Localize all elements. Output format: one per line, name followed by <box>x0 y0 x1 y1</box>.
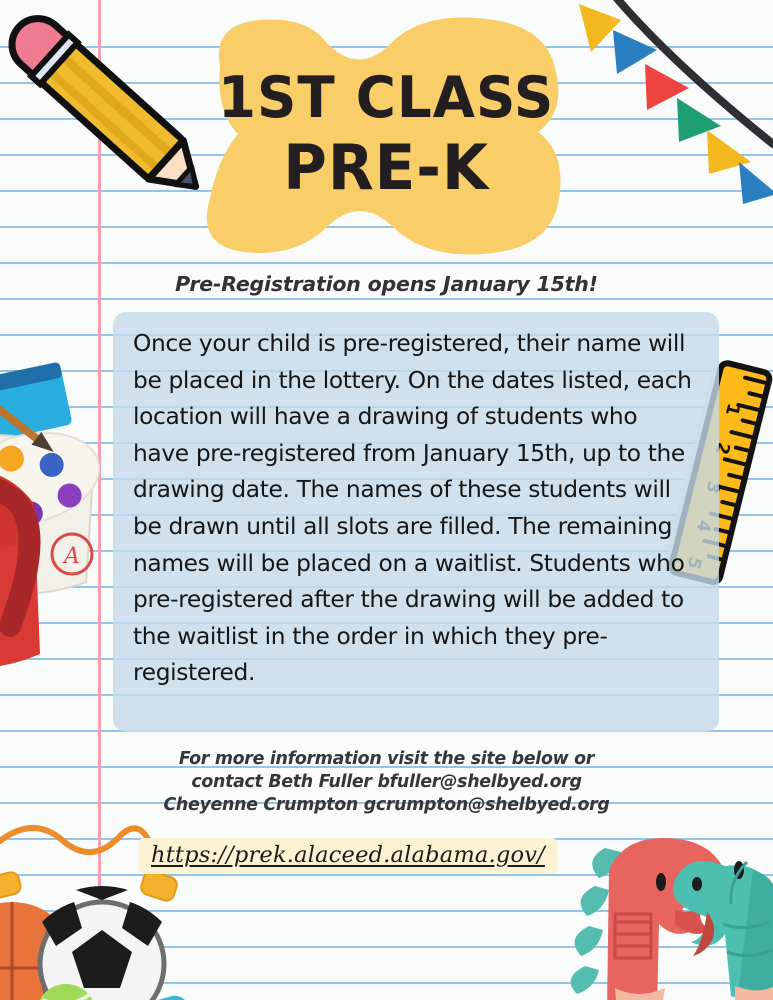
contact-line-1: For more information visit the site belo… <box>0 748 773 771</box>
contact-line-2: contact Beth Fuller bfuller@shelbyed.org <box>0 771 773 794</box>
body-text-box: Once your child is pre-registered, their… <box>113 312 719 732</box>
poster-canvas: A <box>0 0 773 1000</box>
title-blob-shape <box>176 8 596 260</box>
svg-text:A: A <box>62 544 80 569</box>
contact-line-3: Cheyenne Crumpton gcrumpton@shelbyed.org <box>0 794 773 817</box>
contact-block: For more information visit the site belo… <box>0 748 773 817</box>
puppets-illustration <box>557 826 773 1000</box>
body-paragraph: Once your child is pre-registered, their… <box>133 326 699 692</box>
prek-registration-link[interactable]: https://prek.alaceed.alabama.gov/ <box>139 838 557 874</box>
subtitle-text: Pre-Registration opens January 15th! <box>0 272 773 296</box>
url-container: https://prek.alaceed.alabama.gov/ <box>139 838 557 874</box>
bunting-illustration <box>577 0 773 204</box>
